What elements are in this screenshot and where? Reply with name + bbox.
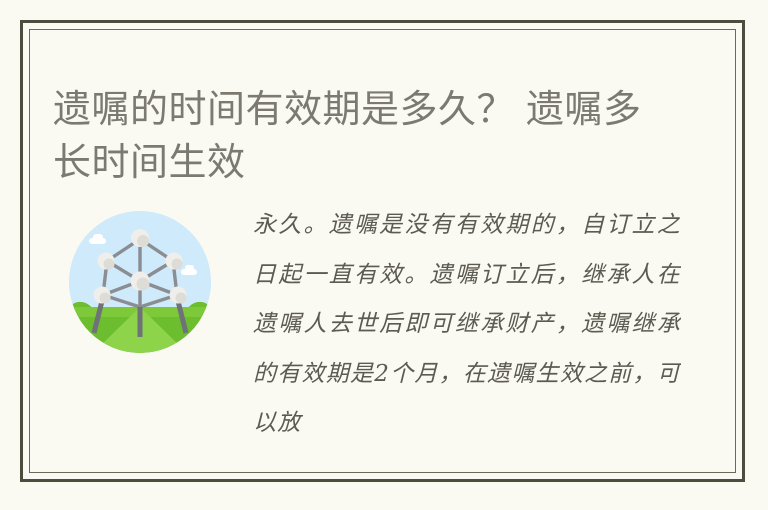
decorative-outer-border: 遗嘱的时间有效期是多久？ 遗嘱多长时间生效: [20, 20, 745, 482]
atomium-monument-illustration-icon: [69, 211, 211, 353]
atomium-illustration-svg: [69, 211, 211, 353]
article-body-text: 永久。遗嘱是没有有效期的，自订立之日起一直有效。遗嘱订立后，继承人在遗嘱人去世后…: [253, 201, 681, 451]
article-content: 遗嘱的时间有效期是多久？ 遗嘱多长时间生效: [23, 23, 742, 479]
page-title: 遗嘱的时间有效期是多久？ 遗嘱多长时间生效: [53, 84, 673, 190]
page-root: 遗嘱的时间有效期是多久？ 遗嘱多长时间生效: [0, 0, 768, 510]
article-body: 永久。遗嘱是没有有效期的，自订立之日起一直有效。遗嘱订立后，继承人在遗嘱人去世后…: [53, 195, 728, 471]
